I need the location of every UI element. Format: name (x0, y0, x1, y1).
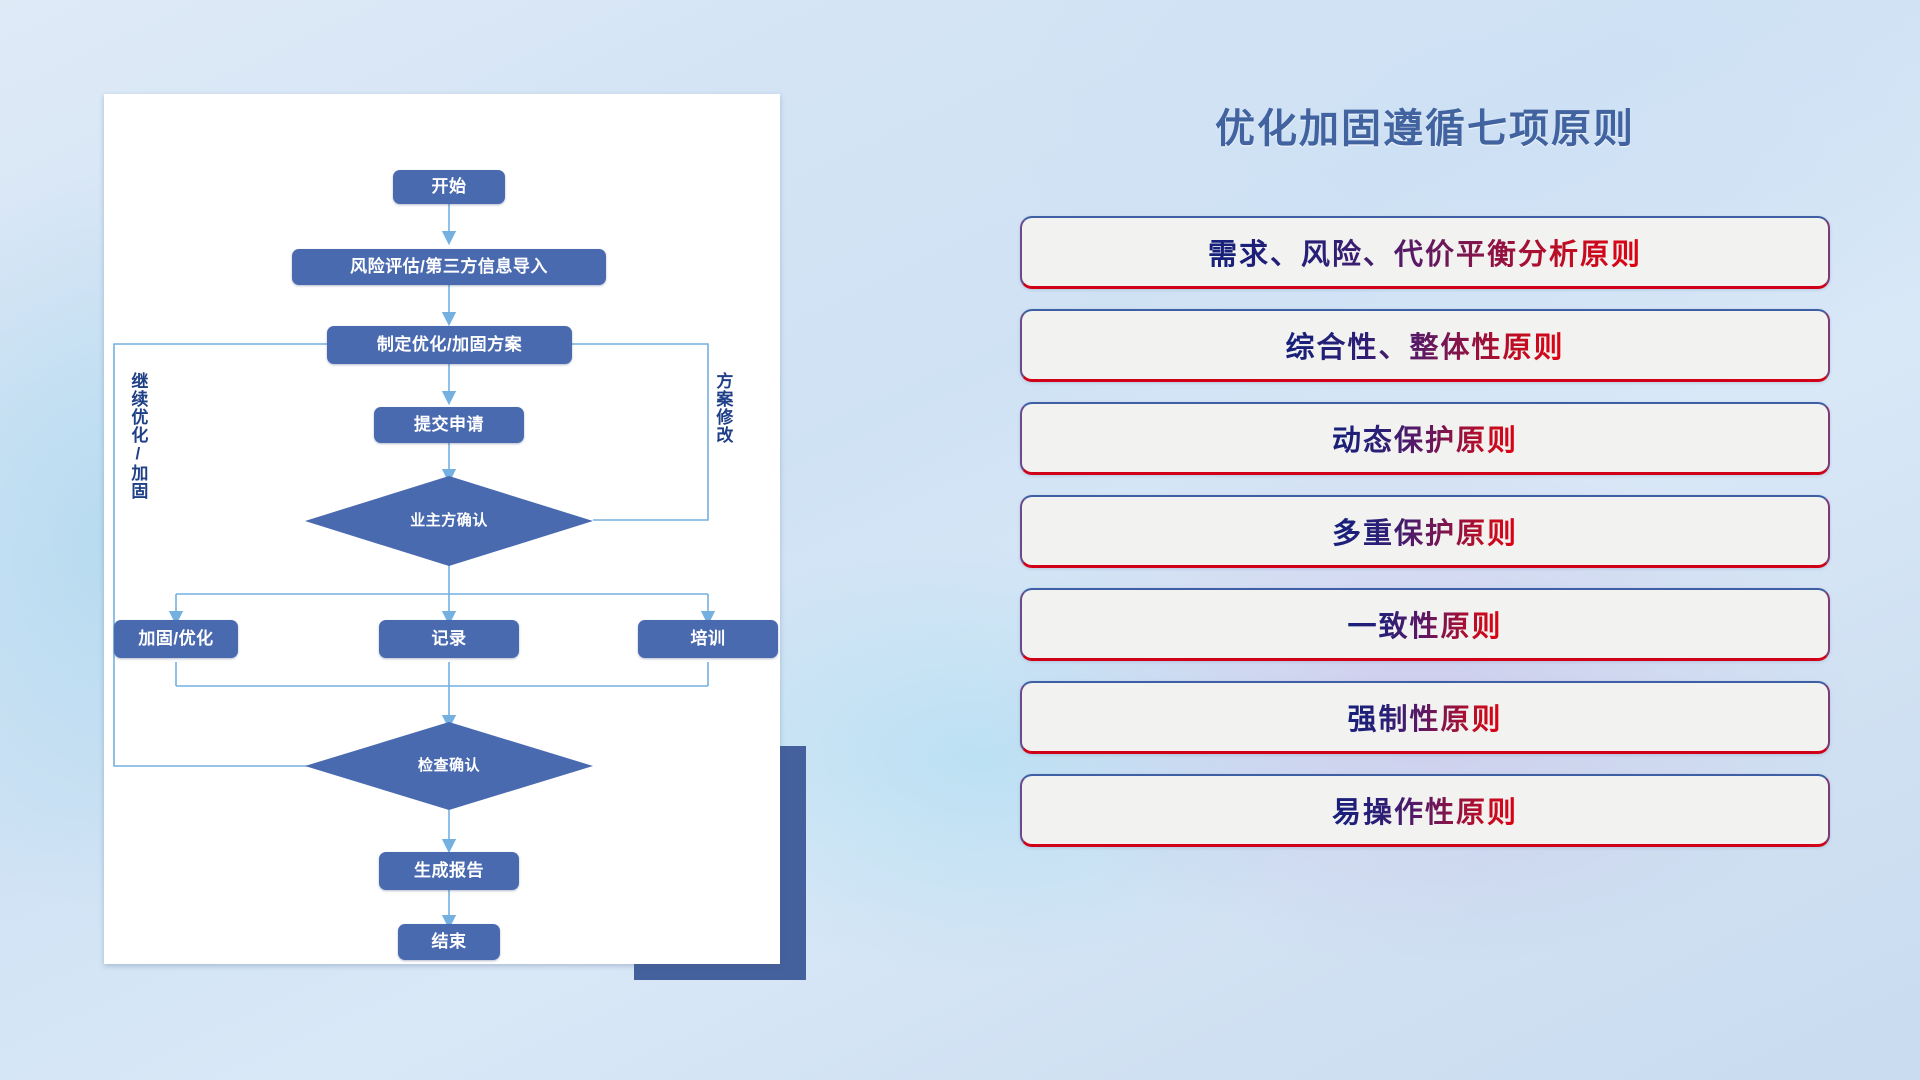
principle-item-1-label: 需求、风险、代价平衡分析原则 (1208, 231, 1642, 273)
flow-node-end[interactable]: 结束 (398, 924, 500, 960)
principle-item-2-label: 综合性、整体性原则 (1285, 324, 1564, 366)
principle-item-5[interactable]: 一致性原则 (1020, 588, 1830, 661)
principles-panel: 优化加固遵循七项原则 需求、风险、代价平衡分析原则 综合性、整体性原则 动态保护… (1020, 96, 1830, 847)
principle-item-1[interactable]: 需求、风险、代价平衡分析原则 (1020, 216, 1830, 289)
principle-item-4-label: 多重保护原则 (1332, 510, 1518, 552)
flow-node-generate-report[interactable]: 生成报告 (379, 852, 519, 890)
flow-node-record[interactable]: 记录 (379, 620, 519, 658)
flow-edge-label-plan-revision-text: 方案修改 (713, 372, 732, 444)
principle-item-3[interactable]: 动态保护原则 (1020, 402, 1830, 475)
flow-node-make-plan[interactable]: 制定优化/加固方案 (327, 326, 572, 364)
principle-item-7-label: 易操作性原则 (1332, 789, 1518, 831)
principle-item-7[interactable]: 易操作性原则 (1020, 774, 1830, 847)
flow-node-end-label: 结束 (432, 933, 467, 952)
flow-node-start-label: 开始 (432, 178, 467, 197)
principle-item-6[interactable]: 强制性原则 (1020, 681, 1830, 754)
principle-item-6-label: 强制性原则 (1347, 696, 1502, 738)
flow-node-check-confirm-label: 检查确认 (418, 758, 480, 775)
flow-edge-label-continue-optimize-text: 继续优化/加固 (128, 372, 147, 500)
flow-node-record-label: 记录 (432, 630, 467, 649)
principle-item-3-label: 动态保护原则 (1332, 417, 1518, 459)
principle-item-4[interactable]: 多重保护原则 (1020, 495, 1830, 568)
flow-node-risk-assessment-label: 风险评估/第三方信息导入 (350, 258, 548, 277)
page-title: 优化加固遵循七项原则 (1020, 96, 1830, 154)
principle-item-5-label: 一致性原则 (1347, 603, 1502, 645)
flow-node-training-label: 培训 (691, 630, 726, 649)
principles-list: 需求、风险、代价平衡分析原则 综合性、整体性原则 动态保护原则 多重保护原则 一… (1020, 216, 1830, 847)
flow-edge-label-plan-revision: 方案修改 (714, 372, 731, 444)
flow-node-submit-application[interactable]: 提交申请 (374, 407, 524, 443)
flow-node-start[interactable]: 开始 (393, 170, 505, 204)
flowchart-card: 开始 风险评估/第三方信息导入 制定优化/加固方案 提交申请 业主方确认 加固/… (104, 94, 780, 964)
flow-node-training[interactable]: 培训 (638, 620, 778, 658)
flow-node-reinforce-optimize-label: 加固/优化 (138, 630, 213, 649)
flow-node-submit-application-label: 提交申请 (414, 416, 484, 435)
flow-node-risk-assessment[interactable]: 风险评估/第三方信息导入 (292, 249, 606, 285)
flow-node-make-plan-label: 制定优化/加固方案 (377, 336, 522, 355)
flow-node-check-confirm[interactable]: 检查确认 (305, 722, 593, 810)
flow-node-owner-confirm[interactable]: 业主方确认 (305, 476, 593, 566)
flow-node-reinforce-optimize[interactable]: 加固/优化 (114, 620, 238, 658)
flow-node-owner-confirm-label: 业主方确认 (410, 513, 488, 530)
flow-edge-label-continue-optimize: 继续优化/加固 (129, 372, 146, 500)
flow-node-generate-report-label: 生成报告 (414, 862, 484, 881)
slide-canvas: 开始 风险评估/第三方信息导入 制定优化/加固方案 提交申请 业主方确认 加固/… (0, 0, 1920, 1080)
principle-item-2[interactable]: 综合性、整体性原则 (1020, 309, 1830, 382)
